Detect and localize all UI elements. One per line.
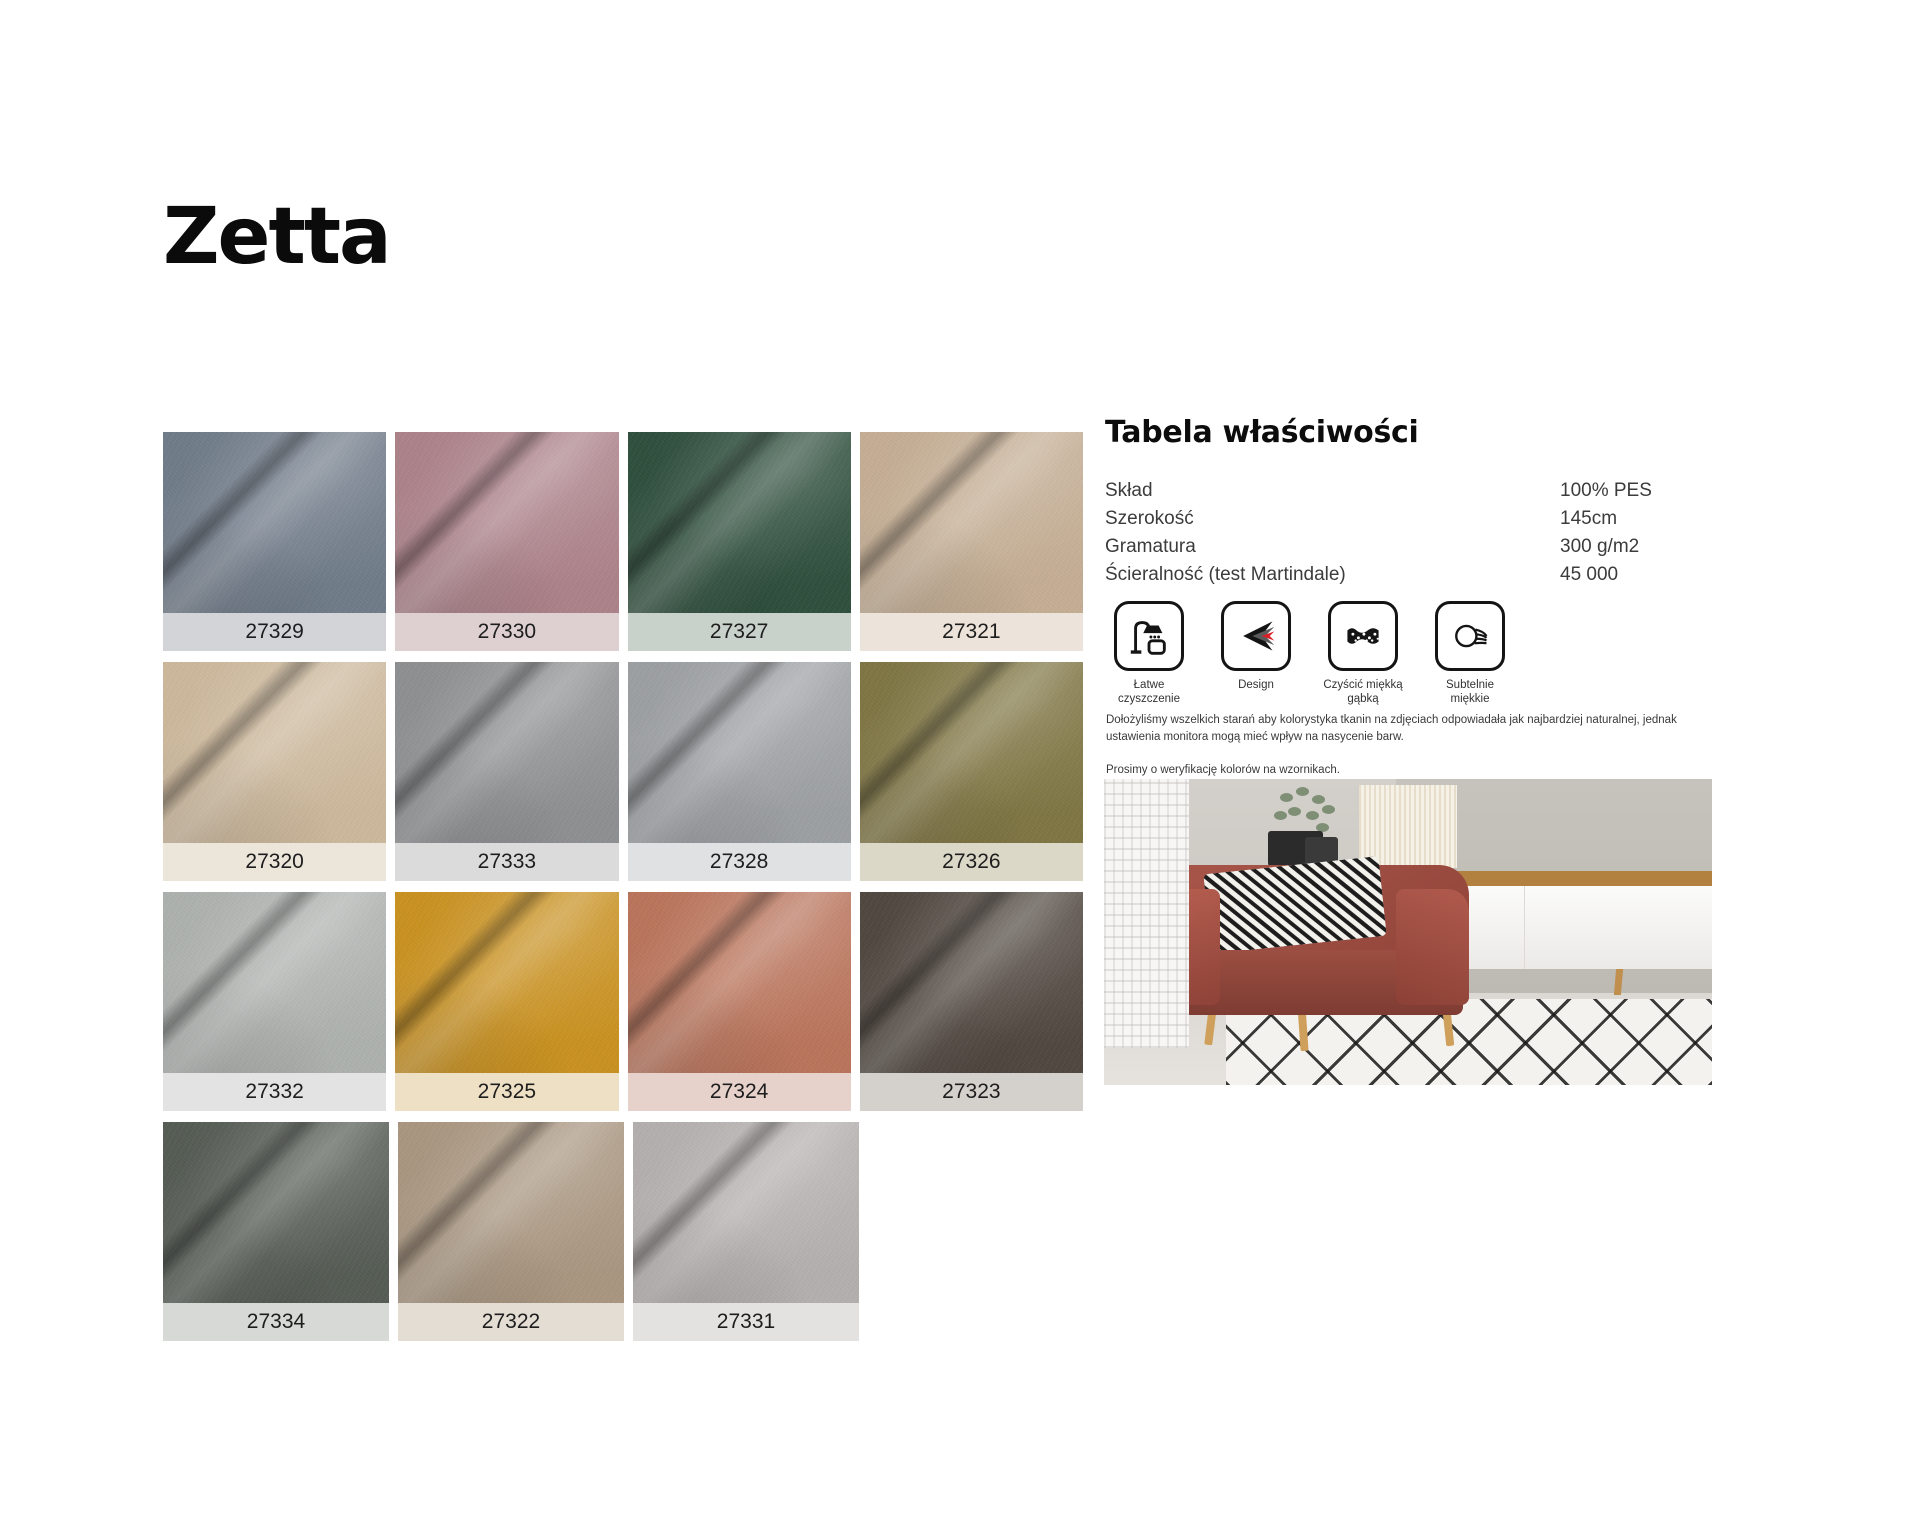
fabric-swatch-27325[interactable]: 27325 bbox=[395, 892, 618, 1111]
swatch-grid: 2732927330273272732127320273332732827326… bbox=[163, 432, 1083, 1352]
properties-panel: Tabela właściwości Skład100% PESSzerokoś… bbox=[1105, 415, 1745, 589]
fabric-swatch-27334[interactable]: 27334 bbox=[163, 1122, 389, 1341]
properties-table: Skład100% PESSzerokość145cmGramatura300 … bbox=[1105, 477, 1745, 589]
fabric-collection-page: Zetta 2732927330273272732127320273332732… bbox=[0, 0, 1920, 1538]
feature-caption: Design bbox=[1215, 678, 1297, 692]
feature-caption: Czyścić miękką gąbką bbox=[1322, 678, 1404, 706]
fabric-swatch-27322[interactable]: 27322 bbox=[398, 1122, 624, 1341]
fabric-swatch-27320[interactable]: 27320 bbox=[163, 662, 386, 881]
swatch-row: 27332273252732427323 bbox=[163, 892, 1083, 1111]
swatch-code-label: 27323 bbox=[860, 1073, 1083, 1111]
swatch-code-label: 27320 bbox=[163, 843, 386, 881]
swatch-code-label: 27332 bbox=[163, 1073, 386, 1111]
page-title: Zetta bbox=[163, 198, 390, 276]
swatch-code-label: 27334 bbox=[163, 1303, 389, 1341]
property-row: Gramatura300 g/m2 bbox=[1105, 533, 1745, 561]
fabric-swatch-27332[interactable]: 27332 bbox=[163, 892, 386, 1111]
fabric-swatch-27321[interactable]: 27321 bbox=[860, 432, 1083, 651]
property-row: Ścieralność (test Martindale)45 000 bbox=[1105, 561, 1745, 589]
fabric-swatch-27330[interactable]: 27330 bbox=[395, 432, 618, 651]
fabric-swatch-27333[interactable]: 27333 bbox=[395, 662, 618, 881]
feature-icons: Łatwe czyszczenieDesignCzyścić miękką gą… bbox=[1108, 601, 1511, 706]
swatch-code-label: 27326 bbox=[860, 843, 1083, 881]
feature-caption: Łatwe czyszczenie bbox=[1108, 678, 1190, 706]
feature-sponge-icon: Czyścić miękką gąbką bbox=[1322, 601, 1404, 706]
swatch-code-label: 27330 bbox=[395, 613, 618, 651]
swatch-code-label: 27331 bbox=[633, 1303, 859, 1341]
feature-soft-touch-icon: Subtelnie miękkie bbox=[1429, 601, 1511, 706]
property-row: Skład100% PES bbox=[1105, 477, 1745, 505]
feature-vacuum-icon: Łatwe czyszczenie bbox=[1108, 601, 1190, 706]
swatch-code-label: 27324 bbox=[628, 1073, 851, 1111]
soft-touch-icon bbox=[1435, 601, 1505, 671]
fabric-swatch-27331[interactable]: 27331 bbox=[633, 1122, 859, 1341]
disclaimer-paragraph-1: Dołożyliśmy wszelkich starań aby kolorys… bbox=[1106, 712, 1716, 745]
swatch-code-label: 27327 bbox=[628, 613, 851, 651]
swatch-code-label: 27325 bbox=[395, 1073, 618, 1111]
property-key: Skład bbox=[1105, 477, 1560, 505]
property-key: Ścieralność (test Martindale) bbox=[1105, 561, 1560, 589]
swatch-code-label: 27328 bbox=[628, 843, 851, 881]
swatch-code-label: 27333 bbox=[395, 843, 618, 881]
fabric-swatch-27328[interactable]: 27328 bbox=[628, 662, 851, 881]
feature-caption: Subtelnie miękkie bbox=[1429, 678, 1511, 706]
feature-design-arrow-icon: Design bbox=[1215, 601, 1297, 706]
property-value: 300 g/m2 bbox=[1560, 533, 1745, 561]
plant-decor bbox=[1262, 785, 1347, 837]
property-key: Szerokość bbox=[1105, 505, 1560, 533]
swatch-row: 273342732227331 bbox=[163, 1122, 1083, 1341]
room-armchair-photo bbox=[1104, 779, 1712, 1085]
property-value: 45 000 bbox=[1560, 561, 1745, 589]
properties-heading: Tabela właściwości bbox=[1105, 415, 1745, 450]
fabric-swatch-27329[interactable]: 27329 bbox=[163, 432, 386, 651]
fabric-swatch-27323[interactable]: 27323 bbox=[860, 892, 1083, 1111]
swatch-row: 27329273302732727321 bbox=[163, 432, 1083, 651]
sponge-icon bbox=[1328, 601, 1398, 671]
property-key: Gramatura bbox=[1105, 533, 1560, 561]
property-row: Szerokość145cm bbox=[1105, 505, 1745, 533]
vacuum-icon bbox=[1114, 601, 1184, 671]
disclaimer-paragraph-2: Prosimy o weryfikację kolorów na wzornik… bbox=[1106, 762, 1716, 779]
fabric-swatch-27326[interactable]: 27326 bbox=[860, 662, 1083, 881]
fabric-swatch-27327[interactable]: 27327 bbox=[628, 432, 851, 651]
design-arrow-icon bbox=[1221, 601, 1291, 671]
property-value: 145cm bbox=[1560, 505, 1745, 533]
swatch-code-label: 27322 bbox=[398, 1303, 624, 1341]
fabric-swatch-27324[interactable]: 27324 bbox=[628, 892, 851, 1111]
swatch-code-label: 27321 bbox=[860, 613, 1083, 651]
property-value: 100% PES bbox=[1560, 477, 1745, 505]
swatch-code-label: 27329 bbox=[163, 613, 386, 651]
disclaimer-block: Dołożyliśmy wszelkich starań aby kolorys… bbox=[1106, 712, 1716, 779]
swatch-row: 27320273332732827326 bbox=[163, 662, 1083, 881]
